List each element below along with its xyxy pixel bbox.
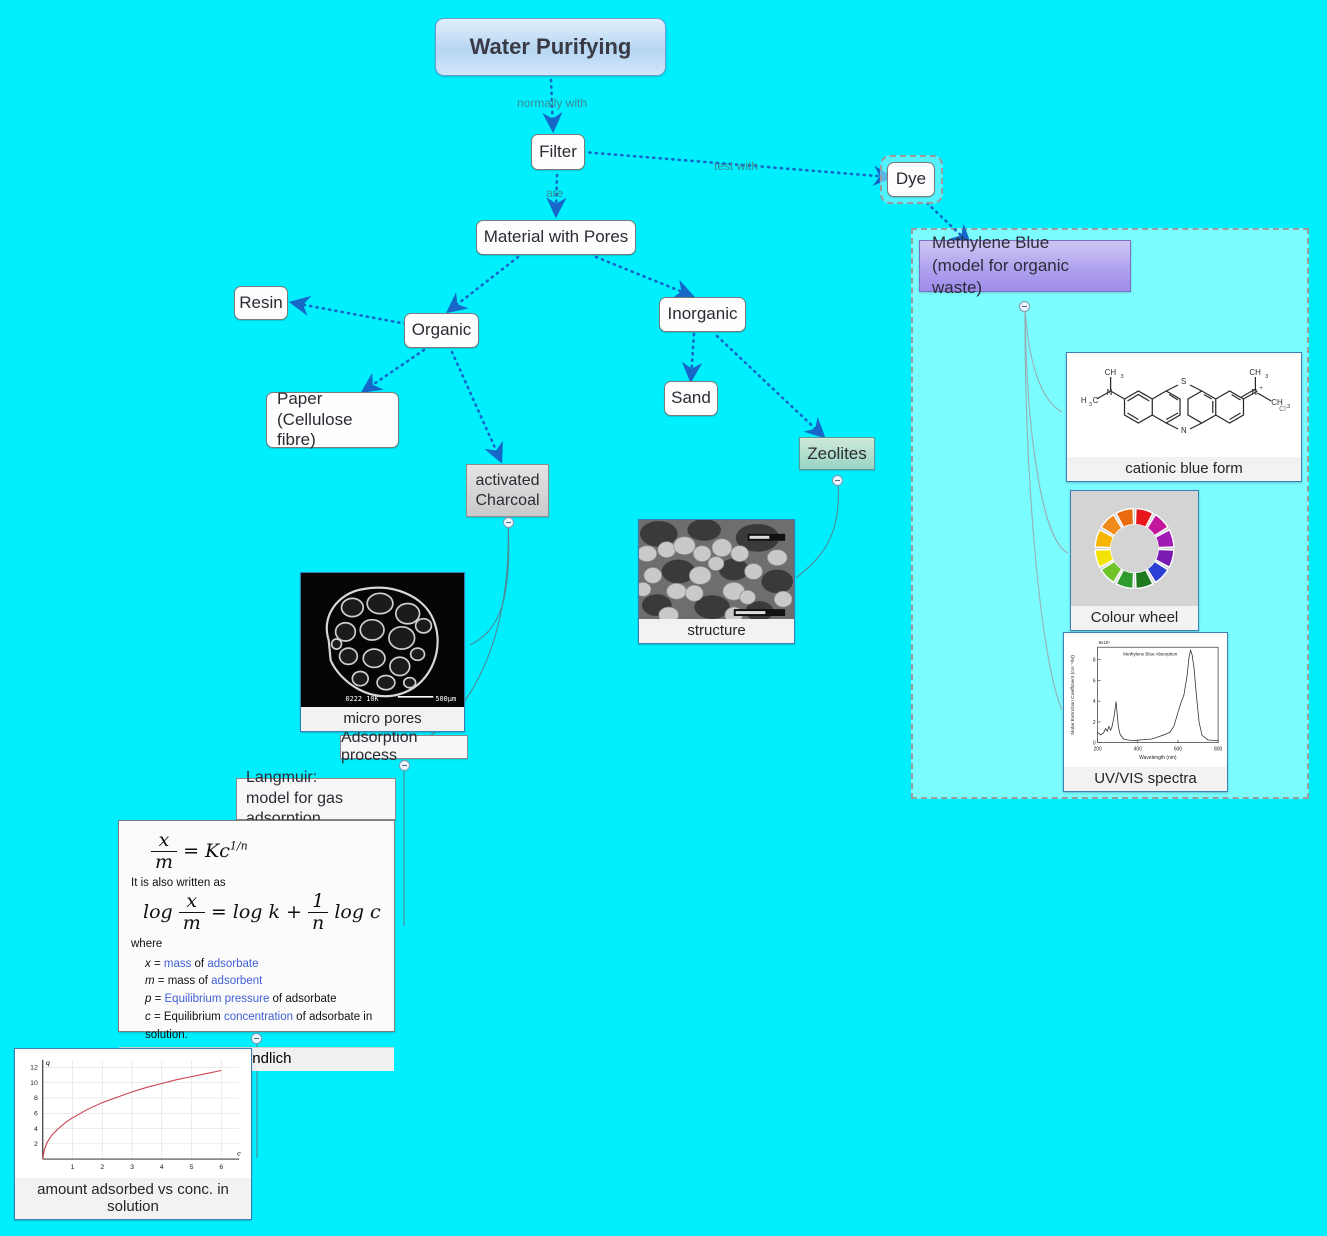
eq2-frac-numerator: 1 — [308, 892, 328, 913]
card-caption: structure — [639, 619, 794, 643]
node-label-line1: activated — [475, 471, 539, 491]
chem-structure-svg: N CH 3 H 3 C S N N + CH 3 CH 3 Cl⁻ — [1067, 353, 1301, 457]
y-tick-label: 12 — [30, 1065, 38, 1072]
card-caption: Colour wheel — [1071, 606, 1198, 630]
y-axis-label: q — [46, 1060, 50, 1068]
x-tick-label: 600 — [1174, 747, 1182, 753]
edge-label-normally-with: normally with — [517, 96, 587, 110]
svg-text:3: 3 — [1121, 374, 1124, 380]
node-label-line1: Langmuir: — [246, 768, 317, 789]
node-inorganic[interactable]: Inorganic — [659, 297, 746, 332]
eq1-exponent: 1/n — [230, 840, 248, 853]
isotherm-svg: 12345624681012cq — [15, 1049, 251, 1178]
y-tick-label: 2 — [34, 1141, 38, 1148]
atom-CH3-left-top: CH — [1105, 368, 1117, 377]
node-paper[interactable]: Paper (Cellulose fibre) — [266, 392, 399, 448]
node-label: Resin — [239, 293, 282, 314]
y-tick-label: 8 — [1093, 658, 1096, 664]
formula-note: It is also written as — [131, 877, 384, 889]
card-adsorption-isotherm[interactable]: 12345624681012cq amount adsorbed vs conc… — [14, 1048, 252, 1220]
formula-where: where — [131, 938, 384, 950]
node-resin[interactable]: Resin — [234, 286, 288, 320]
zeolite-structure-image — [639, 520, 794, 619]
y-scale-label: 8x10⁴ — [1099, 640, 1111, 645]
node-label: Organic — [412, 320, 472, 341]
methylene-collapse-handle[interactable] — [1019, 301, 1030, 312]
eq2-frac-denominator: n — [308, 913, 328, 934]
node-dye[interactable]: Dye — [887, 162, 935, 197]
isotherm-chart-image: 12345624681012cq — [15, 1049, 251, 1178]
colour-wheel-svg — [1071, 491, 1198, 606]
node-activated-charcoal[interactable]: activated Charcoal — [466, 464, 549, 517]
adsorption-collapse-handle[interactable] — [399, 760, 410, 771]
node-zeolites[interactable]: Zeolites — [799, 437, 875, 470]
node-methylene-blue[interactable]: Methylene Blue (model for organic waste) — [919, 240, 1131, 292]
colour-wheel-image — [1071, 491, 1198, 606]
x-axis-label: Wavelength (nm) — [1139, 755, 1177, 761]
card-freundlich-formula[interactable]: x m = Kc1/n It is also written as log x … — [118, 820, 395, 1032]
eq2-tail: log c — [334, 901, 380, 923]
y-axis-label: Molar Extinction Coefficient (cm⁻¹/M) — [1070, 655, 1076, 735]
card-caption: amount adsorbed vs conc. in solution — [15, 1178, 251, 1219]
edge-label-test-with: test with — [714, 159, 758, 173]
card-uvvis-spectra[interactable]: 200400600800024688x10⁴Methylene Blue Abs… — [1063, 632, 1228, 792]
mindmap-canvas: normally with are test with Water Purify… — [0, 0, 1327, 1236]
svg-text:3: 3 — [1089, 402, 1092, 408]
node-water-purifying[interactable]: Water Purifying — [435, 18, 666, 76]
x-tick-label: 2 — [100, 1164, 104, 1171]
node-label: Material with Pores — [484, 227, 629, 248]
equation-2: log x m = log k + 1 n log c — [143, 892, 384, 934]
node-material-with-pores[interactable]: Material with Pores — [476, 220, 636, 255]
node-label: Sand — [671, 388, 711, 409]
eq2-log: log — [143, 901, 173, 923]
freundlich-collapse-handle[interactable] — [251, 1033, 262, 1044]
x-tick-label: 4 — [160, 1164, 164, 1171]
micro-pores-image: 0222 10K 500µm — [301, 573, 464, 707]
y-tick-label: 8 — [34, 1095, 38, 1102]
card-colour-wheel[interactable]: Colour wheel — [1070, 490, 1199, 631]
eq2-numerator: x — [179, 892, 205, 913]
card-caption: UV/VIS spectra — [1064, 767, 1227, 791]
sem-scalebar-text: 0222 10K — [345, 694, 379, 703]
formula-variable: p = Equilibrium pressure of adsorbate — [145, 991, 384, 1009]
atom-CH3-right-top: CH — [1249, 368, 1261, 377]
x-tick-label: 1 — [71, 1164, 75, 1171]
atom-S: S — [1181, 377, 1186, 386]
edge-label-are: are — [546, 186, 563, 200]
node-label-line2: (Cellulose fibre) — [277, 410, 388, 451]
svg-text:C: C — [1093, 396, 1099, 405]
svg-text:3: 3 — [1265, 374, 1268, 380]
x-tick-label: 400 — [1134, 747, 1142, 753]
sem-zeolite-svg — [639, 520, 794, 619]
x-tick-label: 5 — [190, 1164, 194, 1171]
equation-1: x m = Kc1/n — [151, 831, 384, 873]
uvvis-svg: 200400600800024688x10⁴Methylene Blue Abs… — [1064, 633, 1227, 767]
chart-title: Methylene Blue Absorption — [1123, 651, 1177, 656]
atom-N-plus: N — [1251, 388, 1257, 397]
counter-ion-label: Cl⁻ — [1279, 406, 1290, 413]
charcoal-collapse-handle[interactable] — [503, 517, 514, 528]
card-caption: cationic blue form — [1067, 457, 1301, 481]
y-tick-label: 4 — [34, 1126, 38, 1133]
node-langmuir[interactable]: Langmuir: model for gas adsorption — [236, 778, 396, 820]
eq1-denominator: m — [151, 852, 177, 873]
node-label: Zeolites — [807, 444, 867, 464]
node-label: Dye — [896, 169, 926, 190]
eq1-rhs: = Kc — [183, 840, 230, 862]
node-label: Filter — [539, 142, 577, 163]
node-label-line2: (model for organic waste) — [932, 255, 1118, 300]
formula-variable: c = Equilibrium concentration of adsorba… — [145, 1009, 384, 1045]
atom-N-left: N — [1107, 388, 1113, 397]
node-filter[interactable]: Filter — [531, 134, 585, 170]
y-tick-label: 2 — [1093, 720, 1096, 726]
x-tick-label: 3 — [130, 1164, 134, 1171]
sem-charcoal-svg: 0222 10K 500µm — [301, 573, 464, 707]
eq2-mid: = log k + — [211, 901, 302, 923]
x-tick-label: 200 — [1093, 747, 1101, 753]
eq2-denominator: m — [179, 913, 205, 934]
node-sand[interactable]: Sand — [664, 381, 718, 416]
x-tick-label: 6 — [219, 1164, 223, 1171]
formula-body: x m = Kc1/n It is also written as log x … — [119, 821, 394, 1047]
card-micro-pores[interactable]: 0222 10K 500µm micro pores — [300, 572, 465, 732]
x-tick-label: 800 — [1214, 747, 1222, 753]
formula-variable: x = mass of adsorbate — [145, 956, 384, 974]
y-tick-label: 10 — [30, 1080, 38, 1087]
y-tick-label: 0 — [1093, 741, 1096, 747]
formula-variable: m = mass of adsorbent — [145, 973, 384, 991]
y-tick-label: 6 — [34, 1111, 38, 1118]
card-caption: micro pores — [301, 707, 464, 731]
atom-N-bottom: N — [1181, 426, 1187, 435]
node-label-line1: Methylene Blue — [932, 232, 1118, 254]
node-label: Inorganic — [668, 304, 738, 325]
eq1-numerator: x — [151, 831, 177, 852]
y-tick-label: 4 — [1093, 699, 1096, 705]
y-tick-label: 6 — [1093, 678, 1096, 684]
x-axis-label: c — [237, 1150, 241, 1158]
node-label: Water Purifying — [470, 34, 632, 60]
card-cationic-blue-form[interactable]: N CH 3 H 3 C S N N + CH 3 CH 3 Cl⁻ ca — [1066, 352, 1302, 482]
card-zeolite-structure[interactable]: structure — [638, 519, 795, 644]
node-adsorption-process[interactable]: Adsorption process — [340, 735, 468, 759]
formula-variable-list: x = mass of adsorbatem = mass of adsorbe… — [129, 956, 384, 1045]
svg-text:500µm: 500µm — [435, 694, 456, 703]
atom-H3C-left: H — [1081, 396, 1087, 405]
zeolites-collapse-handle[interactable] — [832, 475, 843, 486]
node-label-line2: Charcoal — [475, 491, 539, 511]
node-label-line1: Paper — [277, 389, 322, 410]
uvvis-spectrum-image: 200400600800024688x10⁴Methylene Blue Abs… — [1064, 633, 1227, 767]
methylene-blue-structure-image: N CH 3 H 3 C S N N + CH 3 CH 3 Cl⁻ — [1067, 353, 1301, 457]
node-organic[interactable]: Organic — [404, 313, 479, 348]
svg-text:+: + — [1259, 386, 1263, 392]
